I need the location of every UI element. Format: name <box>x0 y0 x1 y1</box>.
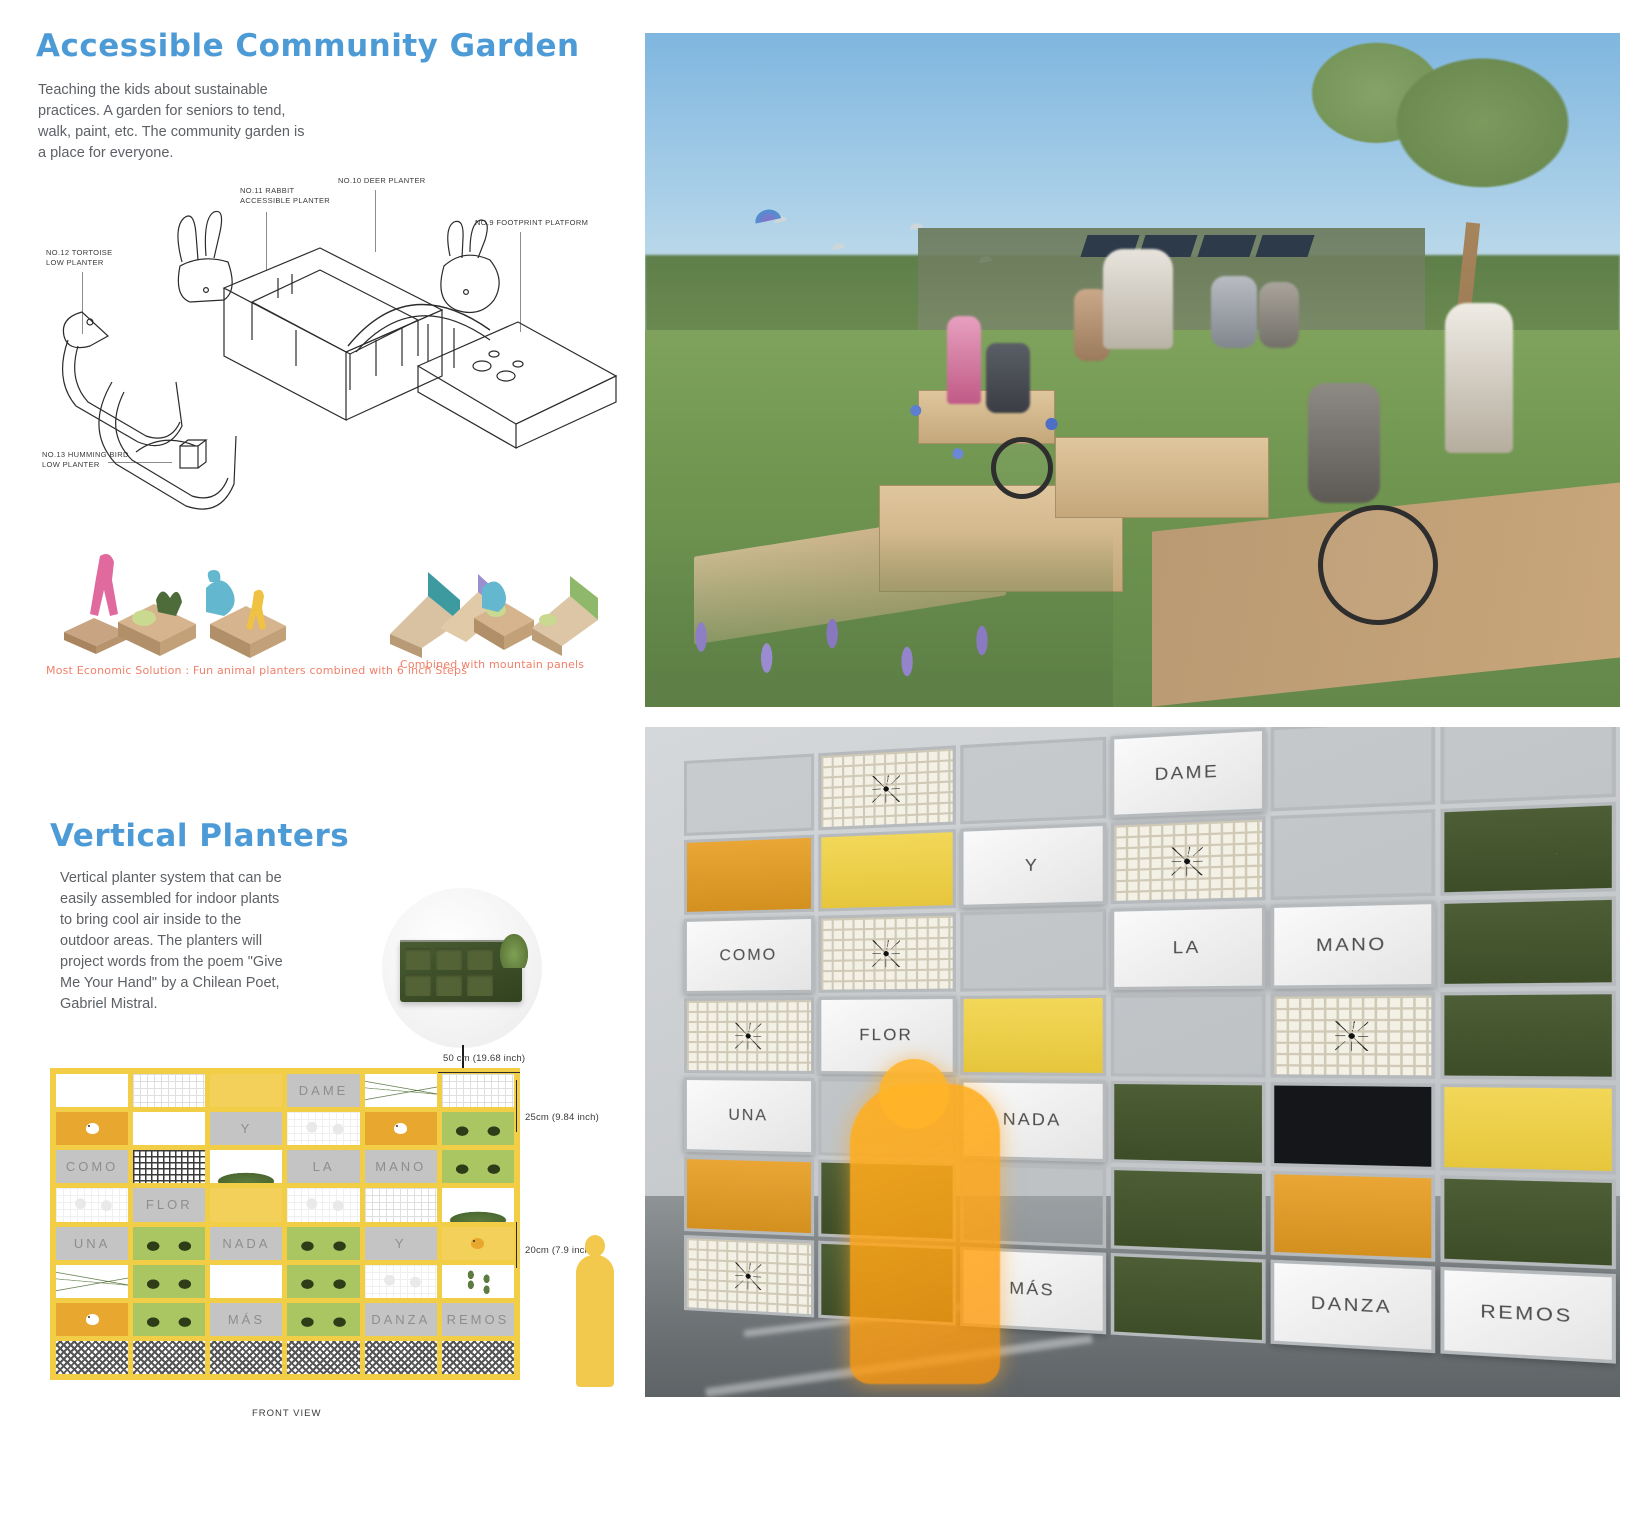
lavender-foreground <box>645 532 1113 707</box>
planter-plant-cell <box>286 1264 360 1299</box>
model-word-panel: DAME <box>1110 727 1265 818</box>
planter-word-cell: FLOR <box>132 1187 206 1222</box>
planter-base-cell <box>55 1340 129 1375</box>
planter-flower-cell <box>286 1187 360 1222</box>
scale-figure-body <box>576 1255 614 1387</box>
spider-plant-icon <box>1171 845 1202 875</box>
planter-plant-cell <box>132 1302 206 1337</box>
page-title-vertical-planters: Vertical Planters <box>50 818 349 854</box>
model-pouch-planter <box>1440 990 1615 1080</box>
caption-combined-mountain-panels: Combined with mountain panels <box>400 658 584 671</box>
model-lattice-panel <box>684 997 814 1074</box>
model-word-panel: Y <box>960 822 1106 907</box>
model-empty-cell <box>960 908 1106 991</box>
person-in-wheelchair <box>986 343 1030 413</box>
model-yellow-tray <box>960 994 1106 1076</box>
model-lattice-panel <box>684 1235 814 1318</box>
description-accessible-community-garden: Teaching the kids about sustainable prac… <box>38 80 306 164</box>
planter-mesh-cell <box>132 1073 206 1108</box>
human-scale-figure <box>572 1235 618 1387</box>
scale-figure-head <box>585 1235 605 1257</box>
bird-icon <box>86 1123 99 1134</box>
planter-plant-cell <box>286 1302 360 1337</box>
planter-blank-cell <box>55 1073 129 1108</box>
model-pouch-planter <box>1440 801 1615 895</box>
dimension-label-tall-module: 25cm (9.84 inch) <box>525 1112 599 1123</box>
spider-plant-icon <box>872 939 900 967</box>
planter-word-cell: COMO <box>55 1149 129 1184</box>
description-vertical-planters: Vertical planter system that can be easi… <box>60 868 292 1015</box>
model-word-panel: MANO <box>1270 900 1435 988</box>
solar-panel <box>1197 235 1256 257</box>
model-pouch-planter <box>1440 896 1615 987</box>
planter-grid-cells: DAMEYCOMOLAMANOFLORUNANADAYMÁSDANZAREMOS <box>50 1068 520 1380</box>
planter-plant-cell <box>132 1264 206 1299</box>
isometric-line-art <box>20 170 630 520</box>
planter-word-cell: NADA <box>209 1226 283 1261</box>
model-lattice-panel <box>818 912 956 993</box>
planter-word-cell: DAME <box>286 1073 360 1108</box>
model-orange-tray <box>1270 1171 1435 1262</box>
potted-plant-graphic <box>500 934 528 968</box>
photo-accessible-garden-render <box>645 33 1620 707</box>
planter-grass-cell <box>364 1073 438 1108</box>
spider-plant-icon <box>872 774 900 802</box>
glowing-human-figure <box>850 1084 1000 1384</box>
dimension-line-tall-module <box>516 1080 517 1132</box>
planter-plant-cell <box>132 1226 206 1261</box>
model-word-panel: FLOR <box>818 996 956 1075</box>
glowing-human-figure-head <box>879 1059 949 1129</box>
dimension-line-width <box>438 1072 520 1073</box>
model-word-panel: UNA <box>684 1077 814 1155</box>
planter-word-cell: UNA <box>55 1226 129 1261</box>
model-pouch-planter <box>1110 1080 1265 1166</box>
planter-yellow-tray-cell <box>441 1226 515 1261</box>
render-mountain-panels <box>382 548 612 660</box>
render-economic-solution <box>60 548 310 660</box>
spider-plant-icon <box>735 1262 761 1290</box>
planter-base-cell <box>441 1340 515 1375</box>
model-word-panel: REMOS <box>1440 1267 1615 1364</box>
model-shelf-cells: DAMEYCOMOLAMANOFLORUNANADAMÁSDANZAREMOS <box>684 727 1615 1364</box>
planter-blank-cell <box>132 1111 206 1146</box>
model-yellow-tray <box>818 828 956 911</box>
planter-grass-cell <box>55 1264 129 1299</box>
model-dark-opening <box>1270 1082 1435 1170</box>
front-view-label: FRONT VIEW <box>252 1408 321 1419</box>
planter-base-cell <box>286 1340 360 1375</box>
planter-yellow-vine-cell <box>209 1187 283 1222</box>
bird-icon <box>471 1238 484 1249</box>
person-senior-walking <box>1445 303 1513 453</box>
spider-plant-icon <box>735 1022 761 1048</box>
front-view-planter-grid: DAMEYCOMOLAMANOFLORUNANADAYMÁSDANZAREMOS <box>50 1068 520 1380</box>
bird-icon <box>394 1123 407 1134</box>
planter-word-cell: MANO <box>364 1149 438 1184</box>
page-title-accessible-community-garden: Accessible Community Garden <box>36 28 580 64</box>
isometric-planter-drawing: NO.12 TORTOISE LOW PLANTER NO.11 RABBIT … <box>20 170 630 520</box>
planter-base-cell <box>209 1340 283 1375</box>
planter-base-cell <box>132 1340 206 1375</box>
planter-mesh-cell <box>364 1187 438 1222</box>
planter-plant-cell <box>441 1149 515 1184</box>
model-empty-cell <box>1440 727 1615 804</box>
planter-word-cell: Y <box>209 1111 283 1146</box>
person-woman-reaching <box>1103 249 1173 349</box>
model-lattice-panel <box>1270 992 1435 1079</box>
planter-word-cell: DANZA <box>364 1302 438 1337</box>
planter-orange-tray-cell <box>55 1111 129 1146</box>
model-yellow-tray <box>1440 1083 1615 1174</box>
model-empty-cell <box>1270 809 1435 900</box>
model-lattice-panel <box>818 745 956 830</box>
person-standing <box>1259 282 1299 348</box>
planter-plant-cell <box>286 1226 360 1261</box>
spider-plant-icon <box>1335 1020 1368 1050</box>
planter-word-cell: MÁS <box>209 1302 283 1337</box>
dimension-label-width: 50 cm (19.68 inch) <box>443 1053 525 1064</box>
model-word-panel: DANZA <box>1270 1259 1435 1353</box>
person-child <box>947 316 981 404</box>
model-orange-tray <box>684 834 814 914</box>
planter-orange-tray-cell <box>55 1302 129 1337</box>
planter-bush-cell <box>441 1187 515 1222</box>
planter-orange-tray-cell <box>364 1111 438 1146</box>
dimension-line-short-module <box>516 1222 517 1268</box>
model-empty-cell <box>960 736 1106 824</box>
planter-flower-cell <box>286 1111 360 1146</box>
planter-word-cell: REMOS <box>441 1302 515 1337</box>
person-in-wheelchair-2 <box>1308 383 1380 503</box>
planter-mesh-cell <box>441 1073 515 1108</box>
planter-flower-cell <box>364 1264 438 1299</box>
planter-dark-mesh-cell <box>132 1149 206 1184</box>
planter-flower-cell <box>55 1187 129 1222</box>
photo-vertical-planter-model: DAMEYCOMOLAMANOFLORUNANADAMÁSDANZAREMOS <box>645 727 1620 1397</box>
portfolio-page: Accessible Community Garden Teaching the… <box>0 0 1636 1532</box>
person-seated <box>1211 276 1257 348</box>
model-pouch-planter <box>1440 1175 1615 1269</box>
planter-vine-cell <box>441 1264 515 1299</box>
planter-plant-cell <box>441 1111 515 1146</box>
planter-yellow-tray-cell <box>209 1073 283 1108</box>
planter-word-cell: Y <box>364 1226 438 1261</box>
model-word-panel: LA <box>1110 904 1265 990</box>
model-empty-cell <box>1270 727 1435 811</box>
model-empty-cell <box>1110 993 1265 1077</box>
wheelchair-wheel-large <box>1318 505 1438 625</box>
model-lattice-panel <box>1110 816 1265 904</box>
model-word-panel: COMO <box>684 915 814 993</box>
model-shelf-structure: DAMEYCOMOLAMANOFLORUNANADAMÁSDANZAREMOS <box>684 761 1484 1310</box>
model-pouch-planter <box>1110 1253 1265 1344</box>
bird-icon <box>86 1314 99 1325</box>
model-empty-cell <box>684 753 814 836</box>
planter-bush-cell <box>209 1149 283 1184</box>
product-photo-pouch-planter <box>382 888 542 1048</box>
planter-blank-cell <box>209 1264 283 1299</box>
model-pouch-planter <box>1110 1167 1265 1255</box>
planter-word-cell: LA <box>286 1149 360 1184</box>
planter-base-cell <box>364 1340 438 1375</box>
model-orange-tray <box>684 1156 814 1236</box>
